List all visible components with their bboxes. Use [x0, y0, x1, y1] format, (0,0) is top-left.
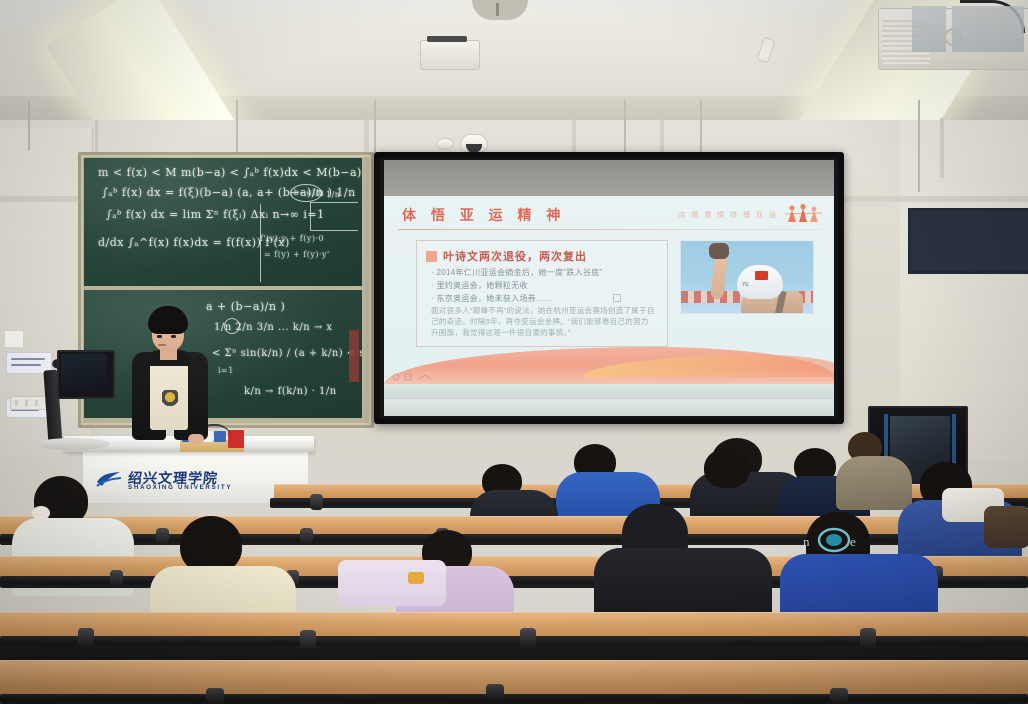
chalk-axis-base: [310, 230, 358, 231]
slide-header-right-text: 点 燃 激 情 拼 搏 亚 运: [678, 210, 778, 220]
instructor-eye-left: [157, 335, 162, 338]
slide-title: 体 悟 亚 运 精 神: [402, 205, 565, 225]
chalk-annotation-1: (b−a)/n: [290, 188, 324, 197]
instructor-hair: [148, 306, 188, 334]
chalk-annotation-2: 1/n: [326, 190, 340, 199]
rail-row-2: [0, 534, 1028, 545]
hoodie-graphic-icon: n e: [798, 520, 870, 560]
blackboard-upper: m < f(x) < M m(b−a) < ∫ₐᵇ f(x)dx < M(b−a…: [84, 158, 362, 286]
slide-bullet-1: · 2014年仁川亚运会摘金后，她一度“跌入谷底”: [431, 267, 603, 278]
slide-bullet-2: · 里约奥运会，她颗粒无收: [431, 280, 528, 291]
swimmer-fist: [709, 243, 729, 259]
instructor-shirt-print: [162, 390, 178, 408]
chalk-axis-h: [310, 202, 358, 203]
presentation-slide[interactable]: 体 悟 亚 运 精 神 点 燃 激 情 拼 搏 亚 运 叶诗文两次退役，两次复出…: [384, 196, 834, 399]
slide-footer-strip: [384, 384, 834, 399]
smoke-detector-icon: [436, 138, 454, 150]
frosted-window: [908, 208, 1028, 274]
monitor-screen[interactable]: [61, 354, 107, 391]
chalk-annotation-4: = f(y) + f(y)·y': [264, 250, 330, 259]
chalk-line-2: ∫ₐᵇ f(x) dx = f(ξ)(b−a) (a, a+ (b−a)/n )…: [102, 186, 356, 199]
dome-camera-icon: [460, 134, 488, 152]
instructor-eye-right: [171, 335, 176, 338]
cap-name-text: YE: [742, 282, 749, 288]
svg-text:e: e: [850, 534, 856, 549]
screen-letterbox-top: [384, 160, 834, 196]
desk-row-2: [0, 516, 1028, 536]
window-pane-right: [952, 6, 1024, 52]
chalk-b-line-5: k/n → f(k/n) · 1/n: [244, 386, 337, 397]
rail-knob-4c: [520, 628, 536, 647]
slide-bullet-3: · 东京奥运会，她未获入场券……: [431, 293, 553, 304]
rail-knob-4d: [860, 628, 876, 647]
chalk-line-4: d/dx ∫ₐ^f(x) f(x)dx = f(f(x)) f'(x): [98, 236, 290, 249]
rail-row-5: [0, 694, 1028, 704]
slide-card-heading: 叶诗文两次退役，两次复出: [443, 248, 587, 264]
rail-knob-4b: [300, 630, 316, 649]
board-side-marker: [349, 330, 359, 382]
rail-knob-2a: [156, 528, 169, 544]
china-flag-icon: [755, 271, 768, 280]
university-wave-icon: [96, 470, 122, 488]
chalk-axis-v: [310, 202, 311, 230]
monitor-base: [36, 438, 110, 450]
mouse-cursor-icon: [613, 294, 621, 302]
chalk-b-line-3: < Σⁿ sin(k/n) / (a + k/n) < sin(k/n): [212, 348, 362, 359]
wall-label-small: [4, 330, 24, 348]
rail-knob-5b: [486, 684, 504, 700]
chalk-circle-b: [224, 318, 240, 334]
ceiling-speaker: [420, 40, 480, 70]
svg-text:n: n: [803, 534, 810, 549]
jacket-badge-icon: [408, 572, 424, 584]
chalk-b-line-1: a + (b−a)/n ): [206, 300, 285, 313]
card-bullet-square-icon: [426, 251, 437, 262]
asian-games-mascot-icon: [784, 204, 826, 224]
slide-photo-swimmer: YE: [680, 240, 814, 314]
hair-clip-icon: [32, 506, 50, 520]
student-8-torso: [836, 456, 912, 510]
chalk-annotation-3: f'(y)·y + f(y)·0: [260, 234, 324, 243]
screen-letterbox-bottom: [384, 399, 834, 416]
instructor-mouth: [158, 344, 166, 346]
slide-mini-icons: [391, 373, 449, 381]
chalk-line-3: ∫ₐᵇ f(x) dx = lim Σⁿ f(ξᵢ) Δxᵢ n→∞ i=1: [106, 208, 325, 221]
rail-knob-1a: [310, 494, 323, 510]
instructor: [124, 306, 210, 446]
rail-knob-5a: [206, 688, 224, 704]
student-12-head: [704, 448, 750, 488]
rail-knob-3a: [110, 570, 123, 586]
slide-content-card: 叶诗文两次退役，两次复出 · 2014年仁川亚运会摘金后，她一度“跌入谷底” ·…: [416, 240, 668, 347]
chalk-line-1: m < f(x) < M m(b−a) < ∫ₐᵇ f(x)dx < M(b−a…: [98, 166, 362, 179]
chalk-b-line-4: i=1: [218, 366, 234, 375]
chalk-b-line-2: 1/n 2/n 3/n ... k/n → x: [214, 322, 333, 333]
rail-knob-4a: [78, 628, 94, 647]
rail-knob-2b: [300, 528, 313, 544]
rail-knob-5c: [830, 688, 848, 704]
chalk-ellipse-1: [290, 184, 322, 202]
university-name-en: SHAOXING UNIVERSITY: [128, 484, 232, 491]
slide-paragraph: 面对很多人“巅峰不再”的说法，她在杭州亚运会赛场创造了属于自己的奇迹。时隔9年，…: [431, 305, 655, 338]
slide-title-rule: [398, 229, 820, 230]
window-pane-left: [912, 6, 946, 52]
folded-jacket: [338, 560, 446, 606]
classroom-photo: 设备使用须知 多媒体操作指南 m < f(x) < M m(b−a) < ∫ₐᵇ…: [0, 0, 1028, 704]
chalk-divider: [260, 204, 261, 282]
university-logo: 绍兴文理学院 SHAOXING UNIVERSITY: [96, 468, 242, 492]
instructor-hand: [188, 434, 204, 444]
light-hanger-5: [918, 100, 920, 192]
brown-bag: [984, 506, 1028, 548]
ceiling-beam-4: [940, 118, 944, 178]
light-hanger-6: [28, 102, 30, 150]
